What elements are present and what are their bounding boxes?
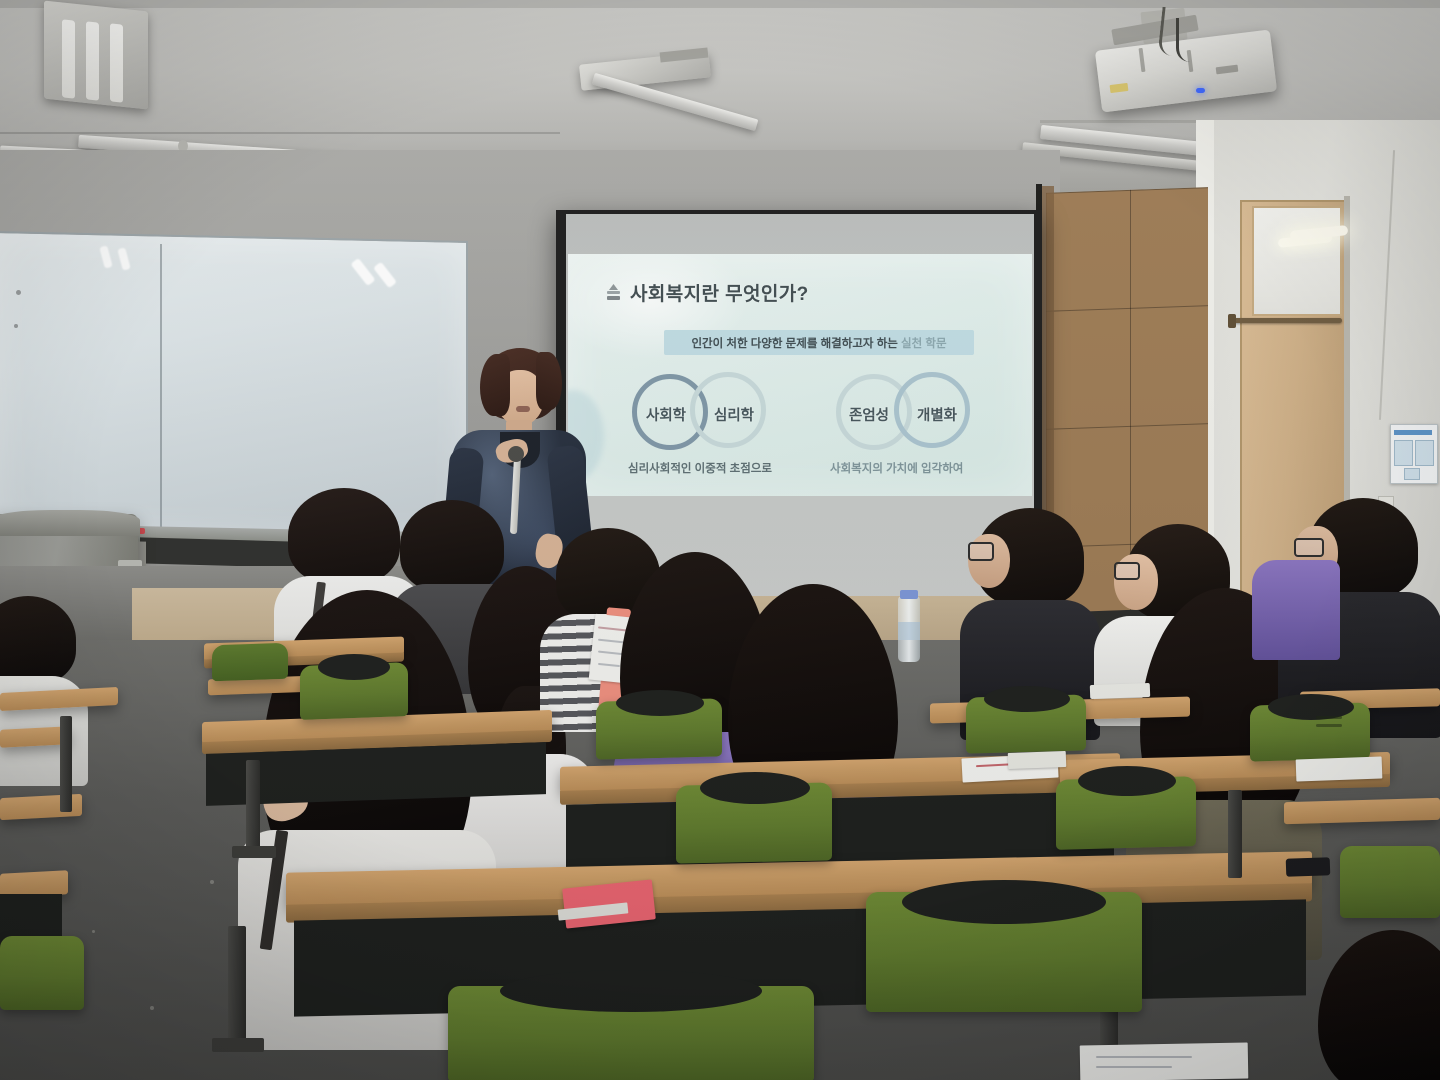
chair[interactable] bbox=[1340, 846, 1440, 918]
desk-leg bbox=[1228, 790, 1242, 878]
desk-foot bbox=[232, 846, 276, 858]
handout-paper[interactable] bbox=[1296, 757, 1383, 782]
venn-right-caption: 사회복지의 가치에 입각하여 bbox=[830, 460, 963, 476]
door-transom-window bbox=[1252, 206, 1342, 316]
notice-image bbox=[1394, 440, 1413, 466]
ceiling-edge bbox=[0, 0, 1440, 8]
eyeglasses bbox=[1294, 538, 1324, 557]
desk-leg bbox=[228, 926, 246, 1046]
chair-backrest-cutout bbox=[318, 654, 390, 680]
door-push-bar[interactable] bbox=[1232, 318, 1342, 323]
chair-backrest-cutout bbox=[1078, 766, 1176, 796]
notebook[interactable] bbox=[1090, 683, 1150, 699]
student-hair bbox=[400, 500, 504, 592]
podium-top bbox=[0, 510, 140, 536]
notice-image bbox=[1415, 440, 1434, 466]
venn-left-label-a: 사회학 bbox=[646, 404, 686, 425]
venn-left-label-b: 심리학 bbox=[714, 404, 754, 425]
bottle-cap bbox=[900, 590, 918, 599]
notice-header-bar bbox=[1394, 430, 1432, 435]
student-hair bbox=[288, 488, 400, 584]
desk bbox=[1284, 798, 1440, 824]
fluorescent-tube bbox=[110, 23, 123, 102]
bottle-label bbox=[898, 622, 920, 640]
handout-paper[interactable] bbox=[1008, 751, 1067, 769]
eyeglasses bbox=[1114, 562, 1140, 580]
chair-backrest-cutout bbox=[984, 686, 1070, 712]
handout-paper[interactable] bbox=[1080, 1043, 1249, 1080]
chair-backrest-cutout bbox=[700, 772, 810, 804]
venn-left-group: 사회학 심리학 심리사회적인 이중적 초점으로 bbox=[568, 254, 808, 414]
chair-backrest-cutout bbox=[616, 690, 704, 716]
desk-leg bbox=[246, 760, 260, 850]
projector-power-led bbox=[1196, 88, 1205, 93]
venn-left-caption: 심리사회적인 이중적 초점으로 bbox=[628, 460, 772, 476]
fluorescent-tube bbox=[62, 19, 75, 98]
projected-slide: 사회복지란 무엇인가? 인간이 처한 다양한 문제를 해결하고자 하는 실천 학… bbox=[568, 254, 1032, 496]
desk-foot bbox=[212, 1038, 264, 1052]
classroom-photo: 사회복지란 무엇인가? 인간이 처한 다양한 문제를 해결하고자 하는 실천 학… bbox=[0, 0, 1440, 1080]
microphone-head bbox=[508, 446, 524, 462]
instructor-mouth bbox=[516, 406, 530, 412]
instructor-hair-side bbox=[480, 354, 510, 416]
venn-right-label-a: 존엄성 bbox=[849, 404, 889, 425]
whiteboard-mark bbox=[16, 290, 21, 295]
chair-backrest-cutout bbox=[902, 880, 1106, 924]
chair[interactable] bbox=[212, 643, 288, 682]
student-purple-sleeve bbox=[1252, 560, 1340, 660]
eyeglasses bbox=[968, 542, 994, 561]
notice-image bbox=[1404, 468, 1420, 480]
instructor-hair-side bbox=[536, 352, 562, 410]
whiteboard-panel-divider bbox=[160, 244, 162, 536]
door-handle[interactable] bbox=[1228, 314, 1236, 328]
chair[interactable] bbox=[0, 936, 84, 1010]
whiteboard bbox=[0, 231, 468, 545]
projector-cable bbox=[1176, 18, 1199, 62]
venn-right-label-b: 개별화 bbox=[917, 404, 957, 425]
venn-right-group: 존엄성 개별화 사회복지의 가치에 입각하여 bbox=[816, 254, 1032, 414]
fluorescent-tube bbox=[86, 21, 99, 100]
smartphone[interactable] bbox=[1286, 857, 1331, 877]
whiteboard-mark bbox=[14, 324, 18, 328]
ceiling-seam bbox=[0, 132, 560, 134]
desk-leg bbox=[60, 716, 72, 812]
chair-backrest-cutout bbox=[500, 970, 762, 1012]
